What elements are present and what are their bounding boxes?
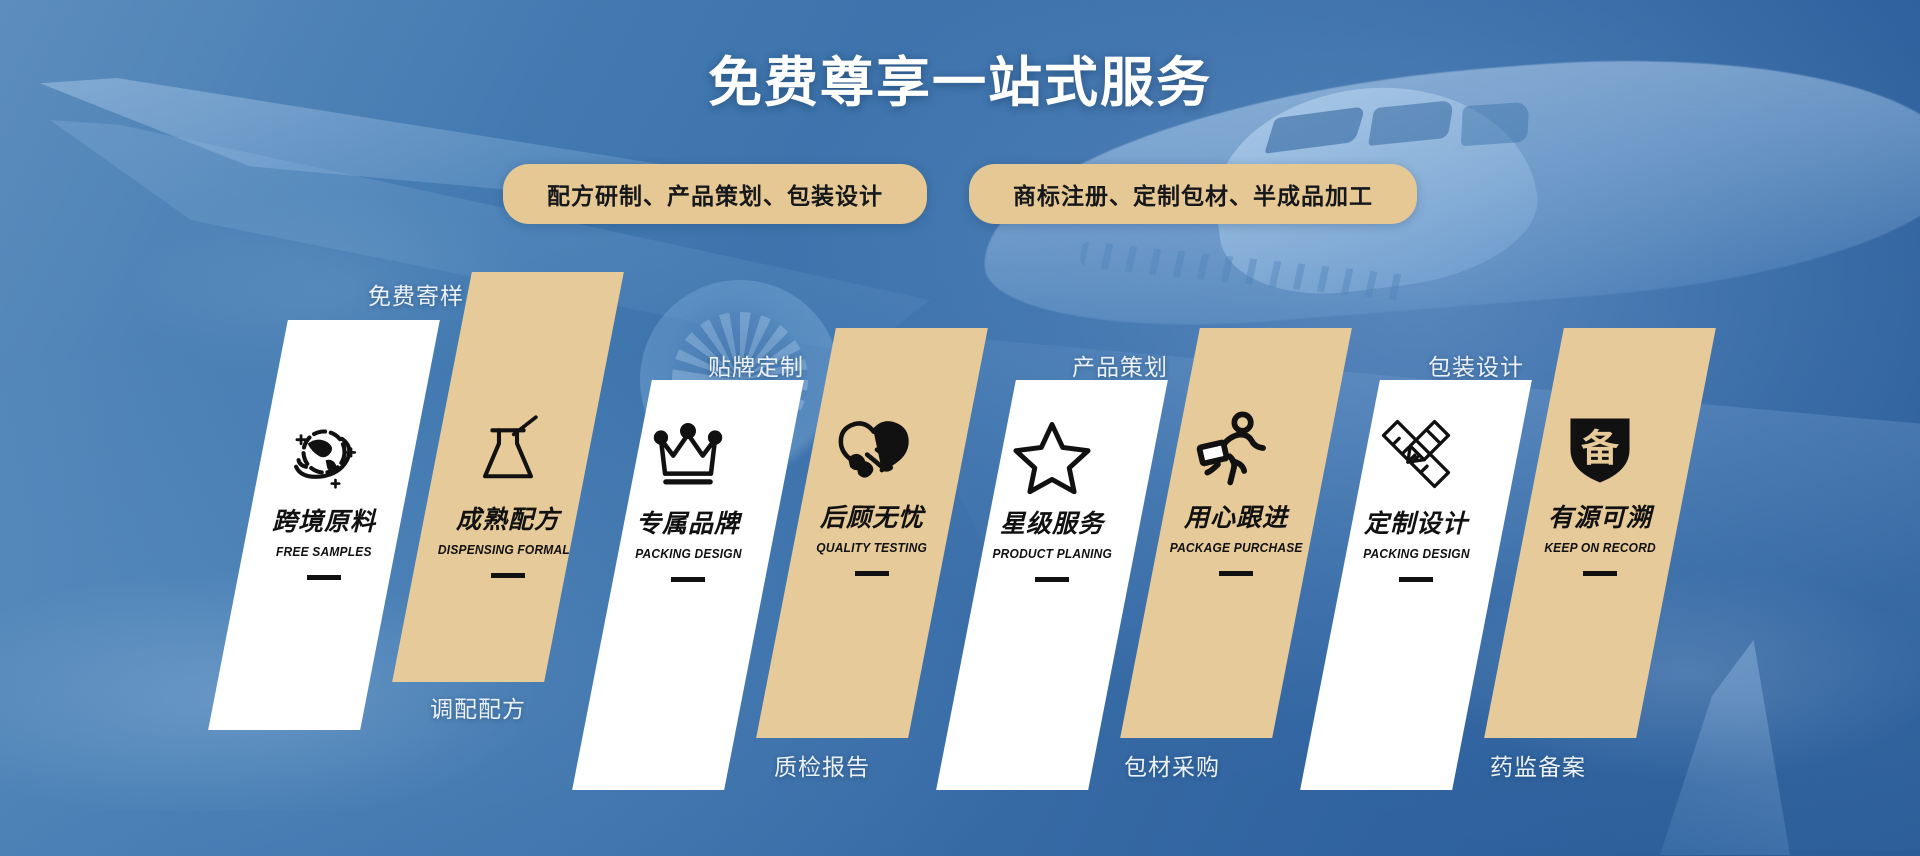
shield-record-icon: 备: [1554, 402, 1646, 494]
step-label-top-2: 贴牌定制: [708, 348, 804, 382]
service-card-subtitle: FREE SAMPLES: [276, 545, 372, 559]
step-label-top-3: 产品策划: [1072, 348, 1168, 382]
service-card-subtitle: PACKAGE PURCHASE: [1170, 541, 1303, 555]
service-card-subtitle: QUALITY TESTING: [817, 541, 928, 555]
title-underline: [307, 575, 341, 580]
step-label-bottom-1: 调配配方: [430, 690, 526, 724]
step-label-bottom-3: 包材采购: [1124, 748, 1220, 782]
title-underline: [671, 577, 705, 582]
service-card-subtitle: PACKING DESIGN: [1363, 547, 1469, 561]
step-label-top-1: 免费寄样: [368, 277, 464, 311]
step-label-bottom-4: 药监备案: [1490, 748, 1586, 782]
title-underline: [491, 573, 525, 578]
step-label-bottom-2: 质检报告: [774, 748, 870, 782]
title-underline: [1399, 577, 1433, 582]
running-person-icon: [1190, 402, 1282, 494]
service-card-title: 成熟配方: [456, 500, 560, 536]
service-card-strip: 免费寄样 贴牌定制 产品策划 包装设计 调配配方 质检报告 包材采购 药监备案 …: [0, 0, 1920, 856]
crown-icon: [642, 408, 734, 500]
service-card-title: 定制设计: [1364, 504, 1468, 540]
title-underline: [1035, 577, 1069, 582]
service-card-title: 有源可溯: [1548, 498, 1652, 534]
title-underline: [855, 571, 889, 576]
service-card-subtitle: PRODUCT PLANING: [992, 547, 1112, 561]
globe-icon: [278, 406, 370, 498]
pencil-ruler-icon: [1370, 408, 1462, 500]
title-underline: [1219, 571, 1253, 576]
service-card-title: 星级服务: [1000, 504, 1104, 540]
service-card-subtitle: DISPENSING FORMALA: [438, 543, 579, 557]
svg-text:备: 备: [1581, 427, 1619, 469]
service-card-title: 跨境原料: [272, 502, 376, 538]
star-icon: [1006, 408, 1098, 500]
service-card-subtitle: KEEP ON RECORD: [1544, 541, 1656, 555]
flask-icon: [462, 404, 554, 496]
service-card-title: 专属品牌: [636, 504, 740, 540]
handshake-heart-icon: [826, 402, 918, 494]
service-card-subtitle: PACKING DESIGN: [635, 547, 741, 561]
service-card-title: 用心跟进: [1184, 498, 1288, 534]
title-underline: [1583, 571, 1617, 576]
service-card-title: 后顾无忧: [820, 498, 924, 534]
step-label-top-4: 包装设计: [1428, 348, 1524, 382]
